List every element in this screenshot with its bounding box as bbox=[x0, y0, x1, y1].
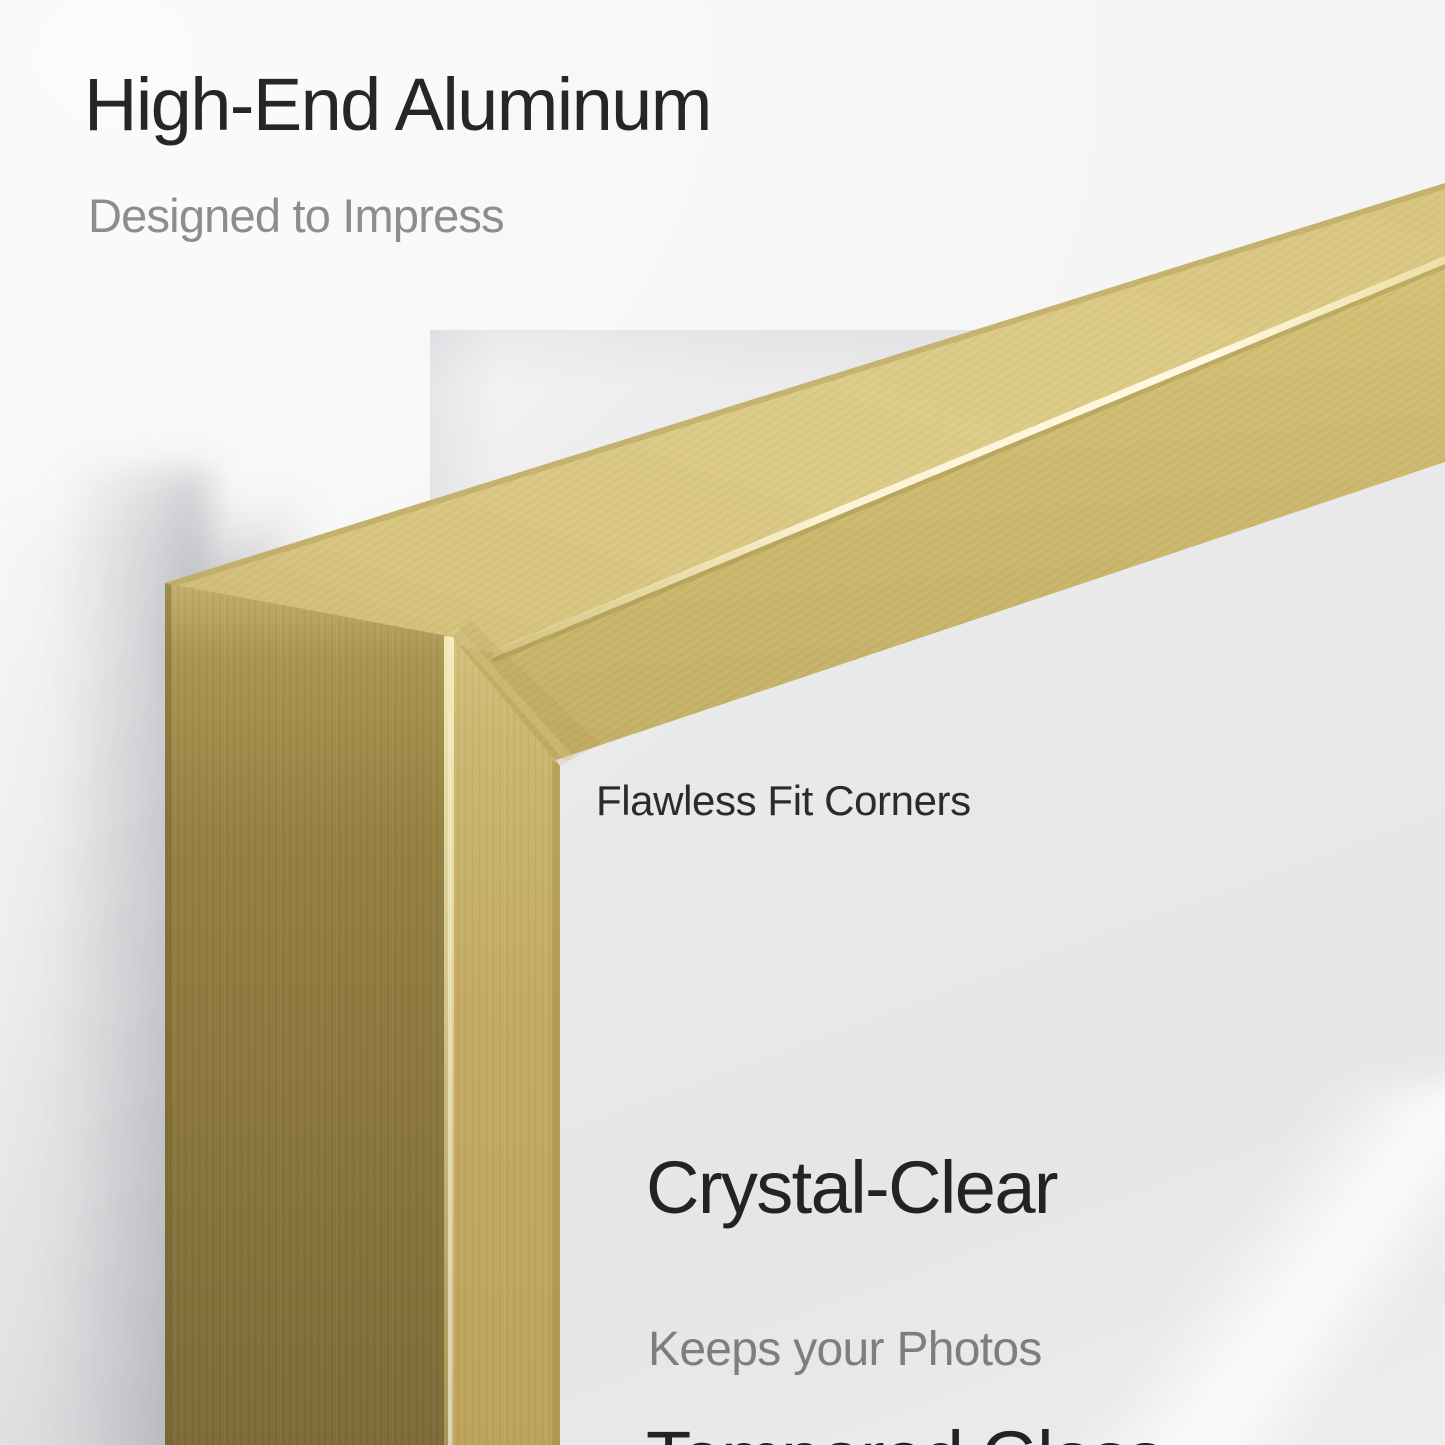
callout-flawless-fit-corners: Flawless Fit Corners bbox=[596, 780, 971, 822]
frame-left-stile bbox=[165, 583, 560, 1445]
stile-outer-brush bbox=[165, 583, 448, 1445]
stile-outer-edge-line bbox=[165, 583, 171, 1445]
stile-ridge-highlight bbox=[444, 636, 454, 1445]
stile-inner-brush bbox=[452, 637, 560, 1445]
stile-inner-edge-shadow bbox=[552, 760, 560, 1445]
page-subtitle: Designed to Impress bbox=[88, 192, 504, 239]
callout-tempered-glass-subtext: Keeps your Photos Looking Sharp bbox=[648, 1196, 1042, 1445]
page-title: High-End Aluminum bbox=[84, 68, 711, 142]
glass-sub-line-1: Keeps your Photos bbox=[648, 1319, 1042, 1380]
product-feature-image: High-End Aluminum Designed to Impress Fl… bbox=[0, 0, 1445, 1445]
